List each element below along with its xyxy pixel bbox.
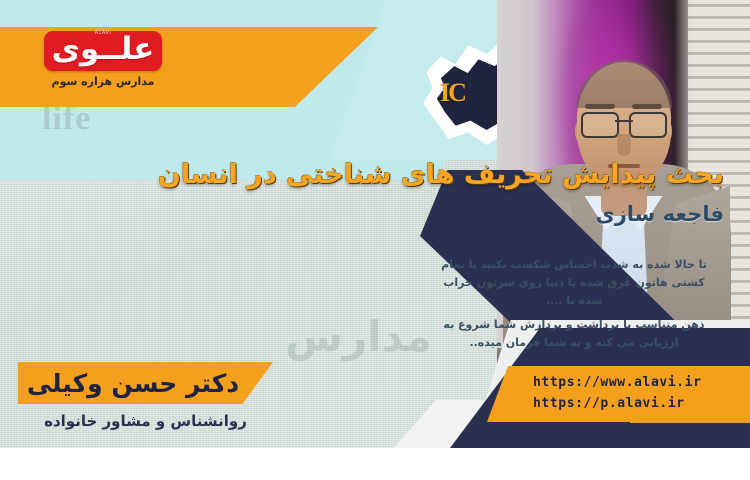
body-paragraph-1: تا حالا شده به شدت احساس شکست بکنید یا ت… [434, 256, 714, 309]
badge-logo-mark-icon: IC [440, 78, 465, 108]
presenter-role: روانشناس و مشاور خانواده [18, 412, 273, 430]
glasses-lens-left [581, 112, 619, 138]
poster-artwork: life مدارس ALAVI علــوی مدارس هزاره سوم … [0, 0, 750, 448]
brand-logo[interactable]: ALAVI علــوی مدارس هزاره سوم [44, 31, 162, 88]
nose [617, 134, 631, 156]
hair [576, 60, 672, 108]
logo-name: علــوی [50, 33, 156, 66]
website-links[interactable]: https://www.alavi.ir https://p.alavi.ir [533, 372, 702, 415]
headline-block: بحث پیدایش تحریف های شناختی در انسان فاج… [294, 158, 724, 226]
link-primary[interactable]: https://www.alavi.ir [533, 372, 702, 393]
logo-tagline: مدارس هزاره سوم [44, 75, 162, 88]
logo-micro-text: ALAVI [95, 30, 112, 36]
eyebrow-right [632, 104, 662, 109]
page-title: بحث پیدایش تحریف های شناختی در انسان [294, 158, 724, 192]
body-paragraph-2: ذهن متناسب با برداشت و پردازش شما شروع ب… [434, 316, 714, 352]
eyebrow-left [585, 104, 615, 109]
logo-red-box: ALAVI علــوی [44, 31, 162, 71]
presenter-name: دکتر حسن وکیلی [18, 365, 248, 403]
body-copy: تا حالا شده به شدت احساس شکست بکنید یا ت… [434, 256, 714, 352]
video-poster: life مدارس ALAVI علــوی مدارس هزاره سوم … [0, 0, 750, 480]
page-subtitle: فاجعه سازی [294, 202, 724, 226]
glasses-lens-right [629, 112, 667, 138]
link-secondary[interactable]: https://p.alavi.ir [533, 393, 702, 414]
watermark-madares: مدارس [285, 312, 432, 361]
glasses-icon [581, 112, 667, 134]
